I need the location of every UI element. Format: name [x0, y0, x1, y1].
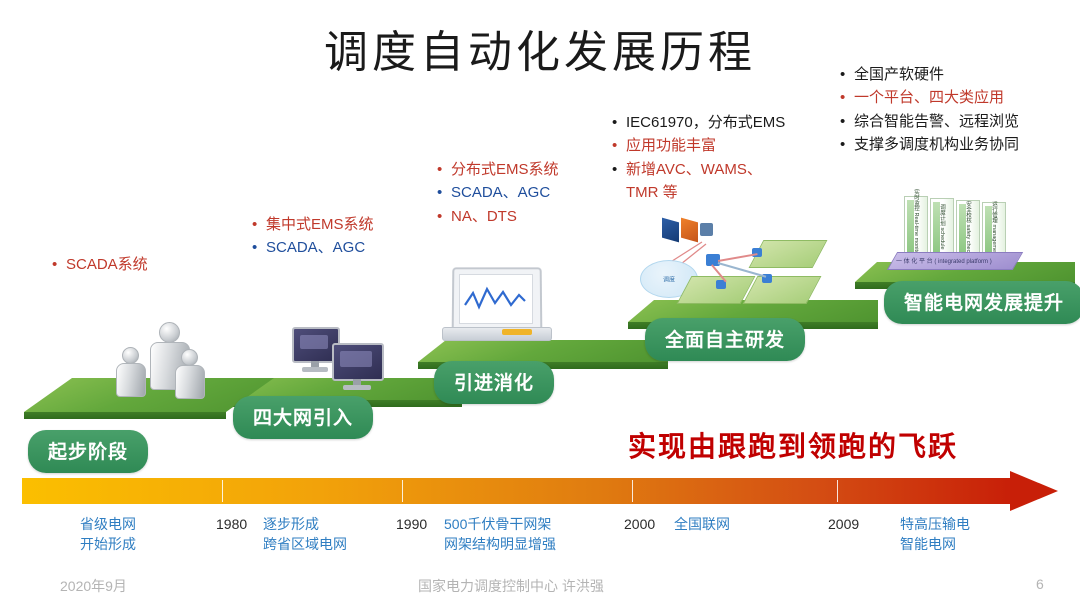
- bullet-item: • 集中式EMS系统: [252, 215, 374, 235]
- footer-date: 2020年9月: [60, 576, 127, 596]
- bullet-text: 全国产软硬件: [854, 65, 1019, 85]
- bullet-dot: •: [437, 183, 451, 203]
- bullet-dot: •: [840, 112, 854, 132]
- person-body: [175, 365, 205, 399]
- integrated-platform-base-label: 一 体 化 平 台 ( integrated platform ): [896, 256, 992, 265]
- bullet-item: • 新增AVC、WAMS、: [612, 160, 785, 180]
- platform-column-1: 实时监控 Real-time monitoring: [904, 196, 928, 256]
- laptop-touchpad: [502, 329, 532, 335]
- bullet-text: 支撑多调度机构业务协同: [854, 135, 1019, 155]
- stage-label-5[interactable]: 智能电网发展提升: [884, 281, 1080, 324]
- timeline-caption-line2: 智能电网: [900, 534, 970, 554]
- achievement-banner: 实现由跟跑到领跑的飞跃: [628, 425, 958, 465]
- bullet-text: IEC61970，分布式EMS: [626, 113, 785, 133]
- timeline-caption-line2: 跨省区域电网: [263, 534, 347, 554]
- person-head: [181, 349, 198, 366]
- bullet-item: • 应用功能丰富: [612, 136, 785, 156]
- integrated-platform-illustration: 实时监控 Real-time monitoring 调度计划 schedule …: [890, 196, 1020, 272]
- monitor-base: [302, 367, 328, 372]
- timeline-caption-line1: 逐步形成: [263, 514, 347, 534]
- bullet-text: SCADA、AGC: [266, 238, 374, 258]
- bullet-dot: •: [840, 65, 854, 85]
- timeline-entry-2: 逐步形成 跨省区域电网: [263, 514, 347, 555]
- monitor-glow: [340, 351, 372, 367]
- timeline-year-1980: 1980: [216, 514, 247, 534]
- timeline-arrow: [22, 478, 1060, 504]
- bullet-group-stage-1: • SCADA系统: [52, 255, 148, 278]
- bullet-item: • SCADA、AGC: [437, 183, 559, 203]
- person-head: [159, 322, 180, 343]
- bullet-item: • 全国产软硬件: [840, 65, 1019, 85]
- timeline-entry-3: 500千伏骨干网架 网架结构明显增强: [444, 514, 556, 555]
- laptop-illustration: [442, 267, 554, 347]
- timeline-tick-1990: [402, 480, 403, 502]
- timeline-caption-line1: 500千伏骨干网架: [444, 514, 556, 534]
- bullet-text: TMR 等: [626, 183, 785, 203]
- platform-edge: [24, 412, 226, 419]
- bullet-item-continuation: TMR 等: [612, 183, 785, 203]
- stage-label-1[interactable]: 起步阶段: [28, 430, 148, 473]
- timeline-year: 1980: [216, 514, 247, 534]
- platform-column-3: 安全校核 safety check: [956, 200, 980, 256]
- bullet-dot: •: [840, 88, 854, 108]
- timeline-arrow-head: [1010, 471, 1058, 511]
- platform-column-2: 调度计划 schedule: [930, 198, 954, 256]
- timeline-tick-2000: [632, 480, 633, 502]
- bullet-text: 一个平台、四大类应用: [854, 88, 1019, 108]
- timeline-entry-4: 全国联网: [674, 514, 730, 534]
- timeline-year: 1990: [396, 514, 427, 534]
- bullet-text: 综合智能告警、远程浏览: [854, 112, 1019, 132]
- timeline-year-2009: 2009: [828, 514, 859, 534]
- platform-column-4: 运行管理 management: [982, 202, 1006, 256]
- bullet-text: SCADA系统: [66, 255, 148, 275]
- stage-label-3[interactable]: 引进消化: [434, 361, 554, 404]
- monitor-front: [332, 343, 384, 395]
- network-topology-illustration: 调度: [640, 218, 830, 308]
- timeline-caption-line1: 省级电网: [80, 514, 136, 534]
- monitor-base: [343, 385, 371, 390]
- bullet-item: • SCADA、AGC: [252, 238, 374, 258]
- bullet-dot: •: [52, 255, 66, 275]
- timeline-arrow-body: [22, 478, 1012, 504]
- person-body: [116, 363, 146, 397]
- bullet-text: 应用功能丰富: [626, 136, 785, 156]
- timeline-year-1990: 1990: [396, 514, 427, 534]
- timeline-tick-2009: [837, 480, 838, 502]
- timeline-year: 2009: [828, 514, 859, 534]
- footer-page-number: 6: [1036, 576, 1044, 592]
- bullet-dot: •: [612, 136, 626, 156]
- bullet-text: SCADA、AGC: [451, 183, 559, 203]
- bullet-dot: •: [840, 135, 854, 155]
- bullet-dot: •: [437, 160, 451, 180]
- bullet-item: • 分布式EMS系统: [437, 160, 559, 180]
- timeline-caption-line1: 全国联网: [674, 514, 730, 534]
- bullet-text: 新增AVC、WAMS、: [626, 160, 785, 180]
- person-figure-right: [172, 349, 206, 397]
- network-tile-bottom-right: [743, 276, 822, 304]
- bullet-item: • 综合智能告警、远程浏览: [840, 112, 1019, 132]
- platform-column-label: 调度计划 schedule: [931, 199, 953, 255]
- bullet-item: • SCADA系统: [52, 255, 148, 275]
- bullet-dot: •: [612, 160, 626, 180]
- timeline-year: 2000: [624, 514, 655, 534]
- platform-column-label: 运行管理 management: [983, 203, 1005, 255]
- bullet-group-stage-3: • 分布式EMS系统 • SCADA、AGC • NA、DTS: [437, 160, 559, 230]
- bullet-dot: •: [252, 215, 266, 235]
- bullet-dot-spacer: [612, 183, 626, 203]
- laptop-base: [442, 327, 552, 341]
- stage-label-4[interactable]: 全面自主研发: [645, 318, 805, 361]
- timeline-caption-line2: 网架结构明显增强: [444, 534, 556, 554]
- timeline-tick-1980: [222, 480, 223, 502]
- bullet-group-stage-4: • IEC61970，分布式EMS • 应用功能丰富 • 新增AVC、WAMS、…: [612, 113, 785, 206]
- timeline-entry-5: 特高压输电 智能电网: [900, 514, 970, 555]
- footer-organization: 国家电力调度控制中心 许洪强: [418, 576, 604, 596]
- bullet-group-stage-5: • 全国产软硬件 • 一个平台、四大类应用 • 综合智能告警、远程浏览 • 支撑…: [840, 65, 1019, 158]
- bullet-dot: •: [612, 113, 626, 133]
- bullet-group-stage-2: • 集中式EMS系统 • SCADA、AGC: [252, 215, 374, 262]
- bullet-item: • 支撑多调度机构业务协同: [840, 135, 1019, 155]
- laptop-waveform-icon: [463, 283, 527, 313]
- person-figure-left: [113, 347, 147, 395]
- bullet-text: 集中式EMS系统: [266, 215, 374, 235]
- bullet-text: NA、DTS: [451, 207, 559, 227]
- timeline-entry-1: 省级电网 开始形成: [80, 514, 136, 555]
- timeline-caption-line2: 开始形成: [80, 534, 136, 554]
- bullet-dot: •: [437, 207, 451, 227]
- timeline-year-2000: 2000: [624, 514, 655, 534]
- platform-column-label: 安全校核 safety check: [957, 201, 979, 255]
- bullet-item: • NA、DTS: [437, 207, 559, 227]
- bullet-item: • IEC61970，分布式EMS: [612, 113, 785, 133]
- monitor-glow: [300, 335, 328, 349]
- bullet-item: • 一个平台、四大类应用: [840, 88, 1019, 108]
- person-head: [122, 347, 139, 364]
- timeline-caption-line1: 特高压输电: [900, 514, 970, 534]
- stage-label-2[interactable]: 四大网引入: [233, 396, 373, 439]
- bullet-text: 分布式EMS系统: [451, 160, 559, 180]
- slide-canvas: 调度自动化发展历程: [0, 0, 1080, 608]
- bullet-dot: •: [252, 238, 266, 258]
- platform-column-label: 实时监控 Real-time monitoring: [905, 197, 927, 255]
